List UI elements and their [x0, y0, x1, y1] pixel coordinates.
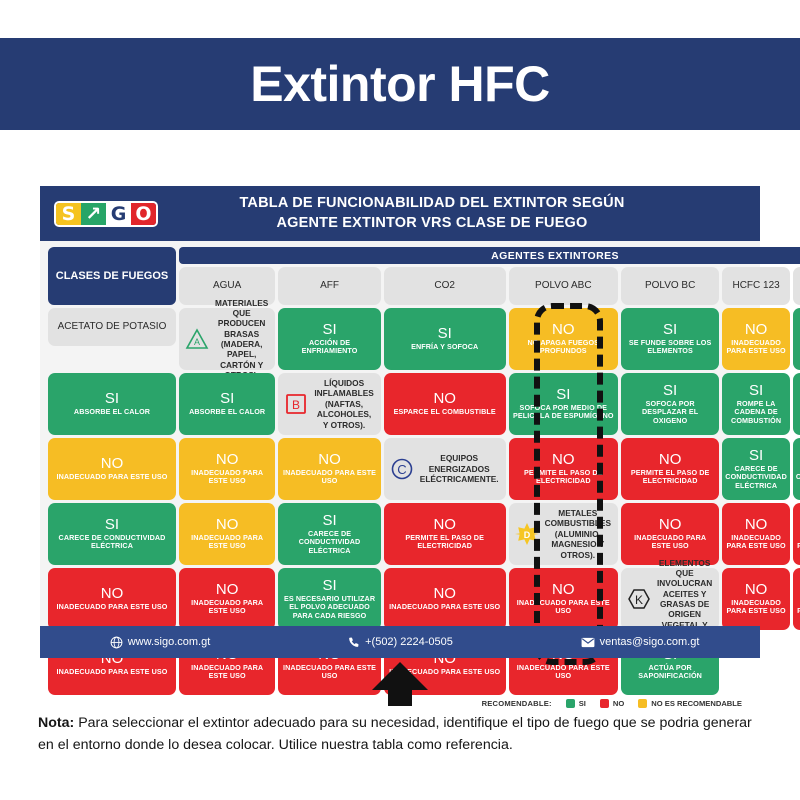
class-row-d: DMETALES COMBUSTIBLES (ALUMINIO, MAGNESI… — [509, 503, 618, 565]
cell-d-1: NOINADECUADO PARA ESTE USO — [621, 503, 719, 565]
cell-detail: ENFRÍA Y SOFOCA — [411, 343, 478, 351]
header-classes: CLASES DE FUEGOS — [48, 247, 176, 305]
poster-title-line-2: AGENTE EXTINTOR VRS CLASE DE FUEGO — [158, 214, 706, 234]
cell-detail: PERMITE EL PASO DE ELECTRICIDAD — [387, 534, 503, 551]
circle-c-icon: C — [390, 457, 414, 481]
extinguisher-table-poster: S ↗ G O TABLA DE FUNCIONABILIDAD DEL EXT… — [40, 186, 760, 658]
envelope-icon — [581, 637, 595, 648]
cell-a-5: NOINADECUADO PARA ESTE USO — [722, 308, 790, 370]
cell-value: SI — [556, 387, 570, 403]
cell-value: NO — [101, 586, 124, 602]
cell-value: NO — [216, 517, 239, 533]
class-row-k: KELEMENTOS QUE INVOLUCRAN ACEITES Y GRAS… — [621, 568, 719, 630]
hexagon-k-icon: K — [627, 587, 651, 611]
cell-value: SI — [322, 513, 336, 529]
cell-detail: NO APAGA FUEGOS PROFUNDOS — [512, 339, 615, 356]
cell-value: SI — [749, 448, 763, 464]
cell-c-2: NOPERMITE EL PASO DE ELECTRICIDAD — [621, 438, 719, 500]
legend-swatch-red — [600, 699, 609, 708]
globe-icon — [110, 636, 123, 649]
cell-value: SI — [438, 326, 452, 342]
cell-c-1: NOPERMITE EL PASO DE ELECTRICIDAD — [509, 438, 618, 500]
cell-c-6: SICARECE DE CONDUCTIVIDAD ELÉCTRICA — [48, 503, 176, 565]
cell-detail: INADECUADO PARA ESTE USO — [182, 599, 272, 616]
cell-detail: ACCIÓN DE ENFRIAMIENTO — [281, 339, 377, 356]
cell-d-8: NOINADECUADO PARA ESTE USO — [384, 568, 506, 630]
footer-website-text: www.sigo.com.gt — [128, 636, 211, 648]
cell-b-2: SISOFOCA POR MEDIO DE PELICULA DE ESPUMÍ… — [509, 373, 618, 435]
class-row-a: AMATERIALES QUE PRODUCEN BRASAS (MADERA,… — [179, 308, 275, 370]
cell-k-1: NOINADECUADO PARA ESTE USO — [722, 568, 790, 630]
cell-detail: ACTÚA POR SAPONIFICACIÓN — [624, 664, 716, 681]
cell-a-1: SIACCIÓN DE ENFRIAMIENTO — [278, 308, 380, 370]
cell-detail: INADECUADO PARA ESTE USO — [281, 664, 377, 681]
cell-d-2: NOINADECUADO PARA ESTE USO — [722, 503, 790, 565]
cell-detail: CARECE DE CONDUCTIVIDAD ELÉCTRICA — [725, 465, 787, 490]
cell-value: SI — [663, 383, 677, 399]
cell-value: NO — [433, 517, 456, 533]
square-b-icon: B — [284, 392, 308, 416]
cell-b-8: NOINADECUADO PARA ESTE USO — [179, 438, 275, 500]
cell-detail: INADECUADO PARA ESTE USO — [725, 599, 787, 616]
cell-a-6: SIABSORBE EL CALOR — [793, 308, 800, 370]
cell-a-9: SIABSORBE EL CALOR — [179, 373, 275, 435]
cell-value: NO — [216, 582, 239, 598]
legend-item-no-recomendable: NO ES RECOMENDABLE — [638, 699, 742, 708]
cell-k-2: NOINADECUADO PARA ESTE USO — [793, 568, 800, 630]
cell-value: NO — [552, 582, 575, 598]
legend-swatch-green — [566, 699, 575, 708]
class-row-c: CEQUIPOS ENERGIZADOS ELÉCTRICAMENTE. — [384, 438, 506, 500]
cell-value: SI — [663, 322, 677, 338]
note-label: Nota: — [38, 715, 74, 731]
sigo-logo: S ↗ G O — [54, 201, 158, 227]
cell-detail: INADECUADO PARA ESTE USO — [512, 599, 615, 616]
cell-detail: INADECUADO PARA ESTE USO — [182, 469, 272, 486]
cell-a-2: SIENFRÍA Y SOFOCA — [384, 308, 506, 370]
cell-value: NO — [433, 586, 456, 602]
svg-text:D: D — [523, 530, 530, 540]
logo-tile-o: O — [131, 203, 156, 225]
cell-a-3: NONO APAGA FUEGOS PROFUNDOS — [509, 308, 618, 370]
column-header-acetato-de-potasio: ACETATO DE POTASIO — [48, 308, 176, 346]
footer-email[interactable]: ventas@sigo.com.gt — [520, 636, 760, 648]
class-row-b: BLÍQUIDOS INFLAMABLES (NAFTAS, ALCOHOLES… — [278, 373, 380, 435]
cell-b-9: NOINADECUADO PARA ESTE USO — [278, 438, 380, 500]
logo-tile-g: G — [106, 203, 131, 225]
cell-detail: INADECUADO PARA ESTE USO — [512, 664, 615, 681]
cell-detail: ESPARCE EL COMBUSTIBLE — [394, 408, 496, 416]
legend-text-no: NO — [613, 699, 624, 708]
cell-value: NO — [659, 517, 682, 533]
cell-detail: INADECUADO PARA ESTE USO — [389, 603, 500, 611]
cell-d-6: NOINADECUADO PARA ESTE USO — [179, 568, 275, 630]
column-header-aff: AFF — [278, 267, 380, 305]
legend-item-no: NO — [600, 699, 624, 708]
cell-detail: INADECUADO PARA ESTE USO — [182, 534, 272, 551]
triangle-a-icon: A — [185, 327, 209, 351]
cell-value: NO — [552, 452, 575, 468]
cell-c-3: SICARECE DE CONDUCTIVIDAD ELÉCTRICA — [722, 438, 790, 500]
svg-text:B: B — [292, 398, 300, 412]
cell-d-7: SIES NECESARIO UTILIZAR EL POLVO ADECUAD… — [278, 568, 380, 630]
phone-icon — [347, 636, 360, 649]
cell-detail: INADECUADO PARA ESTE USO — [56, 603, 167, 611]
cell-value: NO — [659, 452, 682, 468]
column-header-polvo-d: POLVO D — [793, 267, 800, 305]
cell-value: NO — [318, 452, 341, 468]
note: Nota: Para seleccionar el extintor adecu… — [38, 712, 764, 756]
cell-detail: PERMITE EL PASO DE ELECTRICIDAD — [512, 469, 615, 486]
highlight-arrow-icon — [368, 660, 432, 708]
cell-d-5: NOINADECUADO PARA ESTE USO — [48, 568, 176, 630]
svg-text:A: A — [194, 337, 200, 347]
cell-detail: SOFOCA POR DESPLAZAR EL OXIGENO — [624, 400, 716, 425]
column-header-polvo-bc: POLVO BC — [621, 267, 719, 305]
cell-detail: ABSORBE EL CALOR — [796, 339, 800, 356]
cell-detail: ABSORBE EL CALOR — [189, 408, 265, 416]
svg-text:K: K — [635, 593, 643, 607]
logo-arrow-icon: ↗ — [81, 203, 106, 225]
cell-detail: INADECUADO PARA ESTE USO — [725, 534, 787, 551]
class-description: MATERIALES QUE PRODUCEN BRASAS (MADERA, … — [215, 298, 268, 381]
cell-value: SI — [220, 391, 234, 407]
cell-c-4: SICARECE DE CONDUCTIVIDAD ELÉCTRICA — [793, 438, 800, 500]
cell-b-5: SIROMPE LA CADENA DE COMBUSTIÓN — [793, 373, 800, 435]
cell-value: SI — [105, 517, 119, 533]
column-header-polvo-abc: POLVO ABC — [509, 267, 618, 305]
cell-c-9: NOPERMITE EL PASO DE ELECTRICIDAD — [384, 503, 506, 565]
cell-detail: SOFOCA POR MEDIO DE PELICULA DE ESPUMÍGE… — [512, 404, 615, 421]
page-title: Extintor HFC — [250, 55, 550, 113]
cell-detail: INADECUADO PARA ESTE USO — [182, 664, 272, 681]
poster-title-line-1: TABLA DE FUNCIONABILIDAD DEL EXTINTOR SE… — [158, 194, 706, 214]
legend-label: RECOMENDABLE: — [482, 699, 552, 708]
poster-title: TABLA DE FUNCIONABILIDAD DEL EXTINTOR SE… — [158, 194, 746, 233]
logo-tile-s: S — [56, 203, 81, 225]
cell-value: NO — [101, 456, 124, 472]
note-text: Para seleccionar el extintor adecuado pa… — [38, 715, 752, 753]
cell-detail: INADECUADO PARA ESTE USO — [624, 534, 716, 551]
cell-detail: ROMPE LA CADENA DE COMBUSTIÓN — [796, 400, 800, 425]
cell-b-7: NOINADECUADO PARA ESTE USO — [48, 438, 176, 500]
legend-text-si: SI — [579, 699, 586, 708]
cell-detail: INADECUADO PARA ESTE USO — [725, 339, 787, 356]
header-agents: AGENTES EXTINTORES — [179, 247, 800, 264]
cell-value: SI — [322, 322, 336, 338]
cell-detail: ABSORBE EL CALOR — [74, 408, 150, 416]
cell-value: NO — [552, 322, 575, 338]
cell-b-1: NOESPARCE EL COMBUSTIBLE — [384, 373, 506, 435]
class-description: METALES COMBUSTIBLES (ALUMINIO, MAGNESIO… — [545, 508, 611, 560]
cell-detail: ROMPE LA CADENA DE COMBUSTIÓN — [725, 400, 787, 425]
cell-value: SI — [749, 383, 763, 399]
cell-detail: ES NECESARIO UTILIZAR EL POLVO ADECUADO … — [281, 595, 377, 620]
cell-value: NO — [216, 452, 239, 468]
cell-detail: CARECE DE CONDUCTIVIDAD ELÉCTRICA — [796, 465, 800, 490]
cell-detail: CARECE DE CONDUCTIVIDAD ELÉCTRICA — [51, 534, 173, 551]
cell-detail: PERMITE EL PASO DE ELECTRICIDAD — [624, 469, 716, 486]
column-header-hcfc-123: HCFC 123 — [722, 267, 790, 305]
legend-text-no-recomendable: NO ES RECOMENDABLE — [651, 699, 742, 708]
cell-a-8: SIABSORBE EL CALOR — [48, 373, 176, 435]
cell-detail: SE FUNDE SOBRE LOS ELEMENTOS — [624, 339, 716, 356]
cell-b-4: SIROMPE LA CADENA DE COMBUSTIÓN — [722, 373, 790, 435]
cell-value: NO — [745, 582, 768, 598]
cell-a-4: SISE FUNDE SOBRE LOS ELEMENTOS — [621, 308, 719, 370]
footer-website[interactable]: www.sigo.com.gt — [40, 636, 280, 649]
cell-detail: INADECUADO PARA ESTE USO — [796, 534, 800, 551]
poster-header: S ↗ G O TABLA DE FUNCIONABILIDAD DEL EXT… — [40, 186, 760, 241]
footer-phone-text: +(502) 2224-0505 — [365, 636, 453, 648]
footer-email-text: ventas@sigo.com.gt — [600, 636, 700, 648]
legend-item-si: SI — [566, 699, 586, 708]
cell-d-3: NOINADECUADO PARA ESTE USO — [793, 503, 800, 565]
cell-c-7: NOINADECUADO PARA ESTE USO — [179, 503, 275, 565]
svg-text:C: C — [397, 462, 406, 477]
class-description: LÍQUIDOS INFLAMABLES (NAFTAS, ALCOHOLES,… — [314, 378, 373, 430]
cell-value: NO — [745, 517, 768, 533]
legend-swatch-yellow — [638, 699, 647, 708]
footer-phone[interactable]: +(502) 2224-0505 — [280, 636, 520, 649]
cell-detail: INADECUADO PARA ESTE USO — [56, 473, 167, 481]
page-title-banner: Extintor HFC — [0, 38, 800, 130]
star-d-icon: D — [515, 522, 539, 546]
poster-footer: www.sigo.com.gt +(502) 2224-0505 ventas@… — [40, 626, 760, 658]
cell-d-9: NOINADECUADO PARA ESTE USO — [509, 568, 618, 630]
cell-b-3: SISOFOCA POR DESPLAZAR EL OXIGENO — [621, 373, 719, 435]
cell-value: NO — [745, 322, 768, 338]
cell-c-8: SICARECE DE CONDUCTIVIDAD ELÉCTRICA — [278, 503, 380, 565]
class-description: EQUIPOS ENERGIZADOS ELÉCTRICAMENTE. — [420, 453, 499, 484]
cell-detail: INADECUADO PARA ESTE USO — [56, 668, 167, 676]
cell-detail: INADECUADO PARA ESTE USO — [796, 599, 800, 616]
column-header-co2: CO2 — [384, 267, 506, 305]
cell-value: SI — [105, 391, 119, 407]
cell-value: SI — [322, 578, 336, 594]
cell-detail: CARECE DE CONDUCTIVIDAD ELÉCTRICA — [281, 530, 377, 555]
cell-detail: INADECUADO PARA ESTE USO — [281, 469, 377, 486]
cell-value: NO — [433, 391, 456, 407]
